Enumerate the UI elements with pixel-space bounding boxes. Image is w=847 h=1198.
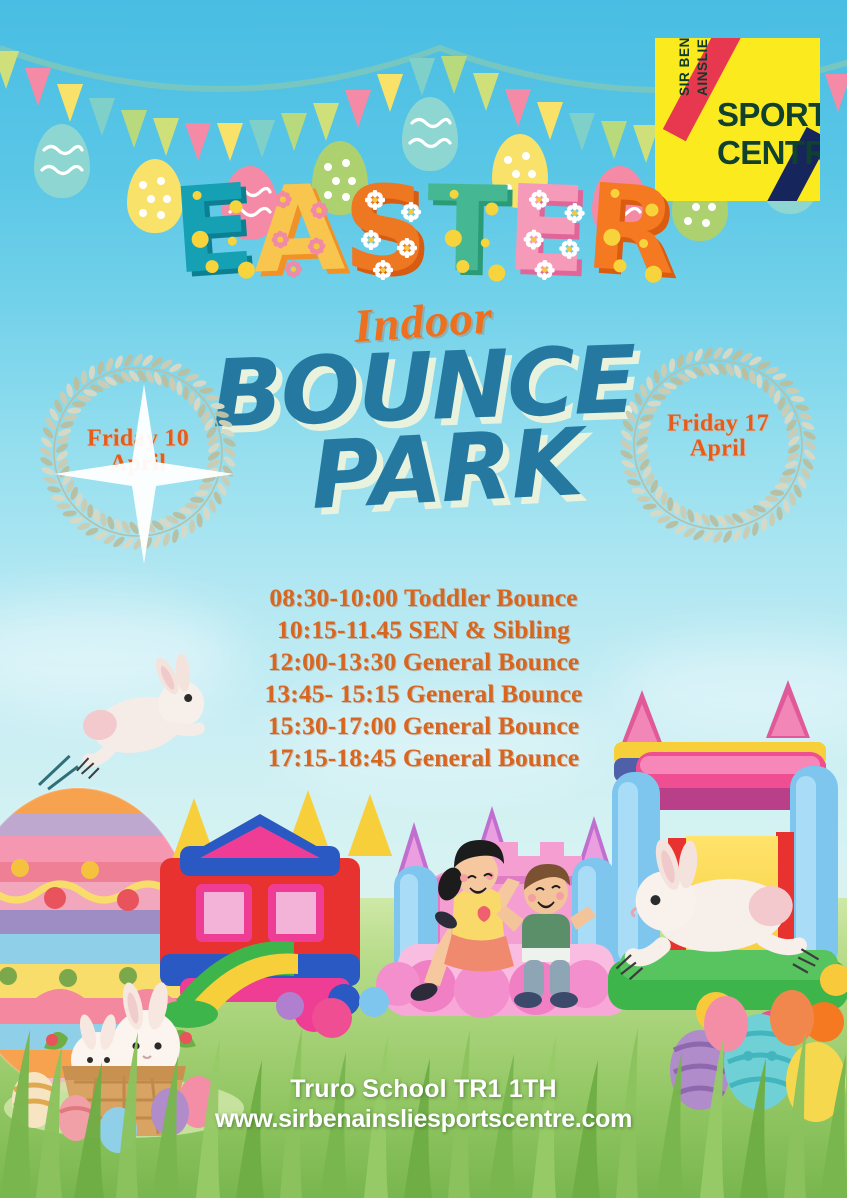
wreath-leaf [770,489,784,496]
schedule-row: 17:15-18:45 General Bounce [0,742,847,774]
easter-bounce-park-poster: SIR BEN AINSLIE SPORTS CENTRE EEAASSTTEE… [0,0,847,1198]
wreath-leaf [113,354,124,369]
wreath-leaf [762,379,769,393]
bunting-flag [25,68,51,106]
schedule-row: 13:45- 15:15 General Bounce [0,678,847,710]
wreath-leaf [741,525,751,540]
schedule-time: 13:45- 15:15 [265,679,400,708]
schedule-session-name: General Bounce [396,711,579,740]
easter-letter-s-2: SS [343,172,425,288]
schedule-row: 08:30-10:00 Toddler Bounce [0,582,847,614]
wreath-leaf [105,357,115,372]
wreath-leaf [626,478,641,487]
wreath-leaf [647,400,661,407]
wreath-leaf [756,374,763,388]
bunting-flag [57,84,83,122]
bunting-flag [0,51,19,89]
wreath-leaf [668,358,675,373]
easter-letter-glyph: A [251,170,343,289]
schedule-time: 10:15-11.45 [277,615,402,644]
logo-word-centre: CENTRE [717,136,820,169]
logo-vertical-line-2: AINSLIE [695,38,710,96]
wreath-leaf [741,367,750,382]
bunting-flag [185,123,211,161]
easter-letter-glyph: E [504,171,586,289]
wreath-leaf [122,353,134,368]
schedule-row: 12:00-13:30 General Bounce [0,646,847,678]
wreath-leaf [781,468,796,477]
wreath-leaf [711,530,724,545]
wreath-leaf [686,508,695,523]
wreath-leaf [131,353,144,368]
wreath-leaf [711,346,724,361]
bunting-flag [249,120,275,158]
wreath-leaf [760,517,767,532]
bunting-flag [825,74,847,112]
wreath-leaf [693,511,704,526]
wreath-leaf [642,503,657,510]
schedule-time: 08:30-10:00 [269,583,398,612]
bunting-flag [345,90,371,128]
bunting-flag [441,56,467,94]
wreath-leaf [631,487,646,494]
bunting-flag [409,58,435,96]
easter-letter-glyph: R [582,169,678,290]
bunting-flag [473,73,499,111]
wreath-leaf [667,497,674,511]
easter-letters-row: EEAASSTTEERR [0,168,847,288]
wreath-leaf [623,468,638,478]
wreath-leaf [778,475,793,483]
schedule-row: 10:15-11.45 SEN & Sibling [0,614,847,646]
easter-letter-glyph: T [426,171,506,288]
wreath-leaf [679,505,687,520]
wreath-leaf [685,350,695,365]
date-wreath-right: Friday 17 April [618,345,818,545]
bunting-flag [217,123,243,161]
bunting-flag [601,121,627,159]
sparkle-icon [44,374,244,574]
schedule-row: 15:30-17:00 General Bounce [0,710,847,742]
poster-footer: Truro School TR1 1TH www.sirbenainsliesp… [0,1075,847,1134]
schedule-session-name: General Bounce [400,679,583,708]
easter-letter-glyph: S [343,172,425,288]
wreath-leaf [649,509,664,518]
wreath-leaf [702,346,714,361]
wreath-leaf [637,496,651,502]
easter-letter-t-3: TT [426,171,506,288]
wreath-leaf [676,353,685,368]
wreath-leaf [776,506,783,521]
bunting-flag [505,89,531,127]
bunting-flag [281,113,307,151]
bunting-flag [377,74,403,112]
wreath-leaf [775,483,789,490]
wreath-leaf [673,502,680,516]
schedule-time: 15:30-17:00 [268,711,397,740]
wreath-leaf [790,395,805,402]
easter-letter-e-0: EE [169,169,254,290]
bunting-flag [89,98,115,136]
wreath-leaf [661,364,667,378]
grass-ground [0,898,847,1198]
easter-letter-e-4: EE [504,171,586,289]
wreath-leaf [772,372,787,381]
bunting-flag [569,113,595,151]
easter-letter-a-1: AA [251,170,343,289]
wreath-leaf [693,347,704,362]
wreath-leaf [779,380,794,387]
wreath-leaf [769,512,775,526]
date-right-line1: Friday 17 [667,411,769,437]
wreath-leaf [748,370,756,385]
schedule-session-name: General Bounce [396,743,579,772]
wreath-leaf [732,364,743,379]
bunting-flag [153,118,179,156]
wreath-leaf [732,527,743,542]
schedule-session-name: General Bounce [396,647,579,676]
logo-vertical-line-1: SIR BEN [677,38,692,96]
wreath-leaf [645,376,654,391]
schedule-session-name: SEN & Sibling [402,615,570,644]
bunting-flag [313,103,339,141]
date-right-text: Friday 17 April [618,412,818,463]
session-schedule: 08:30-10:00 Toddler Bounce10:15-11.45 SE… [0,582,847,774]
schedule-time: 12:00-13:30 [268,647,397,676]
wreath-leaf [782,499,791,514]
wreath-leaf [751,522,760,537]
bunting-flag [121,110,147,148]
wreath-leaf [652,394,666,401]
easter-letter-r-5: RR [582,169,678,290]
footer-venue: Truro School TR1 1TH [0,1075,847,1104]
date-right-line2: April [690,436,746,462]
footer-website[interactable]: www.sirbenainsliesportscentre.com [0,1105,847,1134]
schedule-time: 17:15-18:45 [268,743,397,772]
wreath-leaf [653,369,660,384]
logo-word-sports: SPORTS [717,98,820,131]
easter-letter-glyph: E [169,169,254,290]
schedule-session-name: Toddler Bounce [398,583,578,612]
date-wreath-left: Friday 10 April [38,352,238,552]
wreath-leaf [785,388,799,394]
wreath-leaf [722,529,734,544]
